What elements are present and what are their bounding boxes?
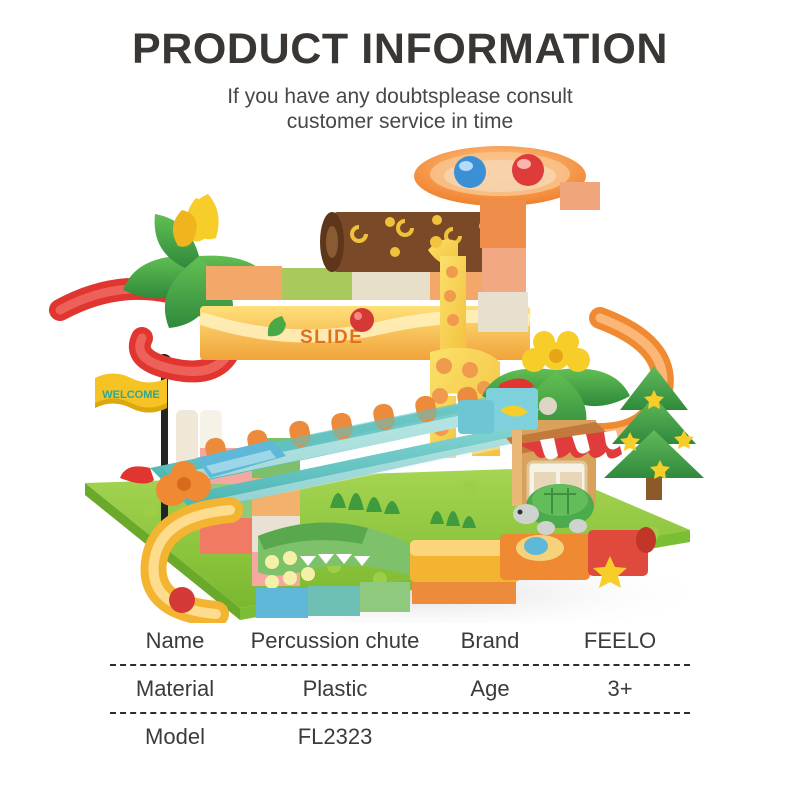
page-header: PRODUCT INFORMATION If you have any doub… <box>0 0 800 134</box>
banana-cluster <box>173 194 219 247</box>
spec-label-name: Name <box>110 628 240 654</box>
spec-value-material: Plastic <box>240 676 430 702</box>
spec-table: Name Percussion chute Brand FEELO Materi… <box>110 618 690 760</box>
slide-label: SLIDE <box>300 327 363 348</box>
spec-label-brand: Brand <box>430 628 550 654</box>
yellow-flower <box>522 331 590 372</box>
spec-value-age: 3+ <box>550 676 690 702</box>
spec-value-name: Percussion chute <box>240 628 430 654</box>
page-title: PRODUCT INFORMATION <box>0 0 800 74</box>
table-row: Material Plastic Age 3+ <box>110 666 690 712</box>
spec-label-model: Model <box>110 724 240 750</box>
subtitle-line-2: customer service in time <box>120 109 680 134</box>
product-information-page: PRODUCT INFORMATION If you have any doub… <box>0 0 800 800</box>
product-image: WELCOME <box>0 138 800 623</box>
marble-red <box>512 154 544 186</box>
page-subtitle: If you have any doubtsplease consult cus… <box>120 84 680 134</box>
spec-label-age: Age <box>430 676 550 702</box>
spec-label-material: Material <box>110 676 240 702</box>
table-row: Name Percussion chute Brand FEELO <box>110 618 690 664</box>
table-row: Model FL2323 <box>110 714 690 760</box>
svg-text:WELCOME: WELCOME <box>102 389 159 401</box>
subtitle-line-1: If you have any doubtsplease consult <box>120 84 680 109</box>
marble-blue <box>454 156 486 188</box>
spec-value-brand: FEELO <box>550 628 690 654</box>
spec-value-model: FL2323 <box>240 724 430 750</box>
